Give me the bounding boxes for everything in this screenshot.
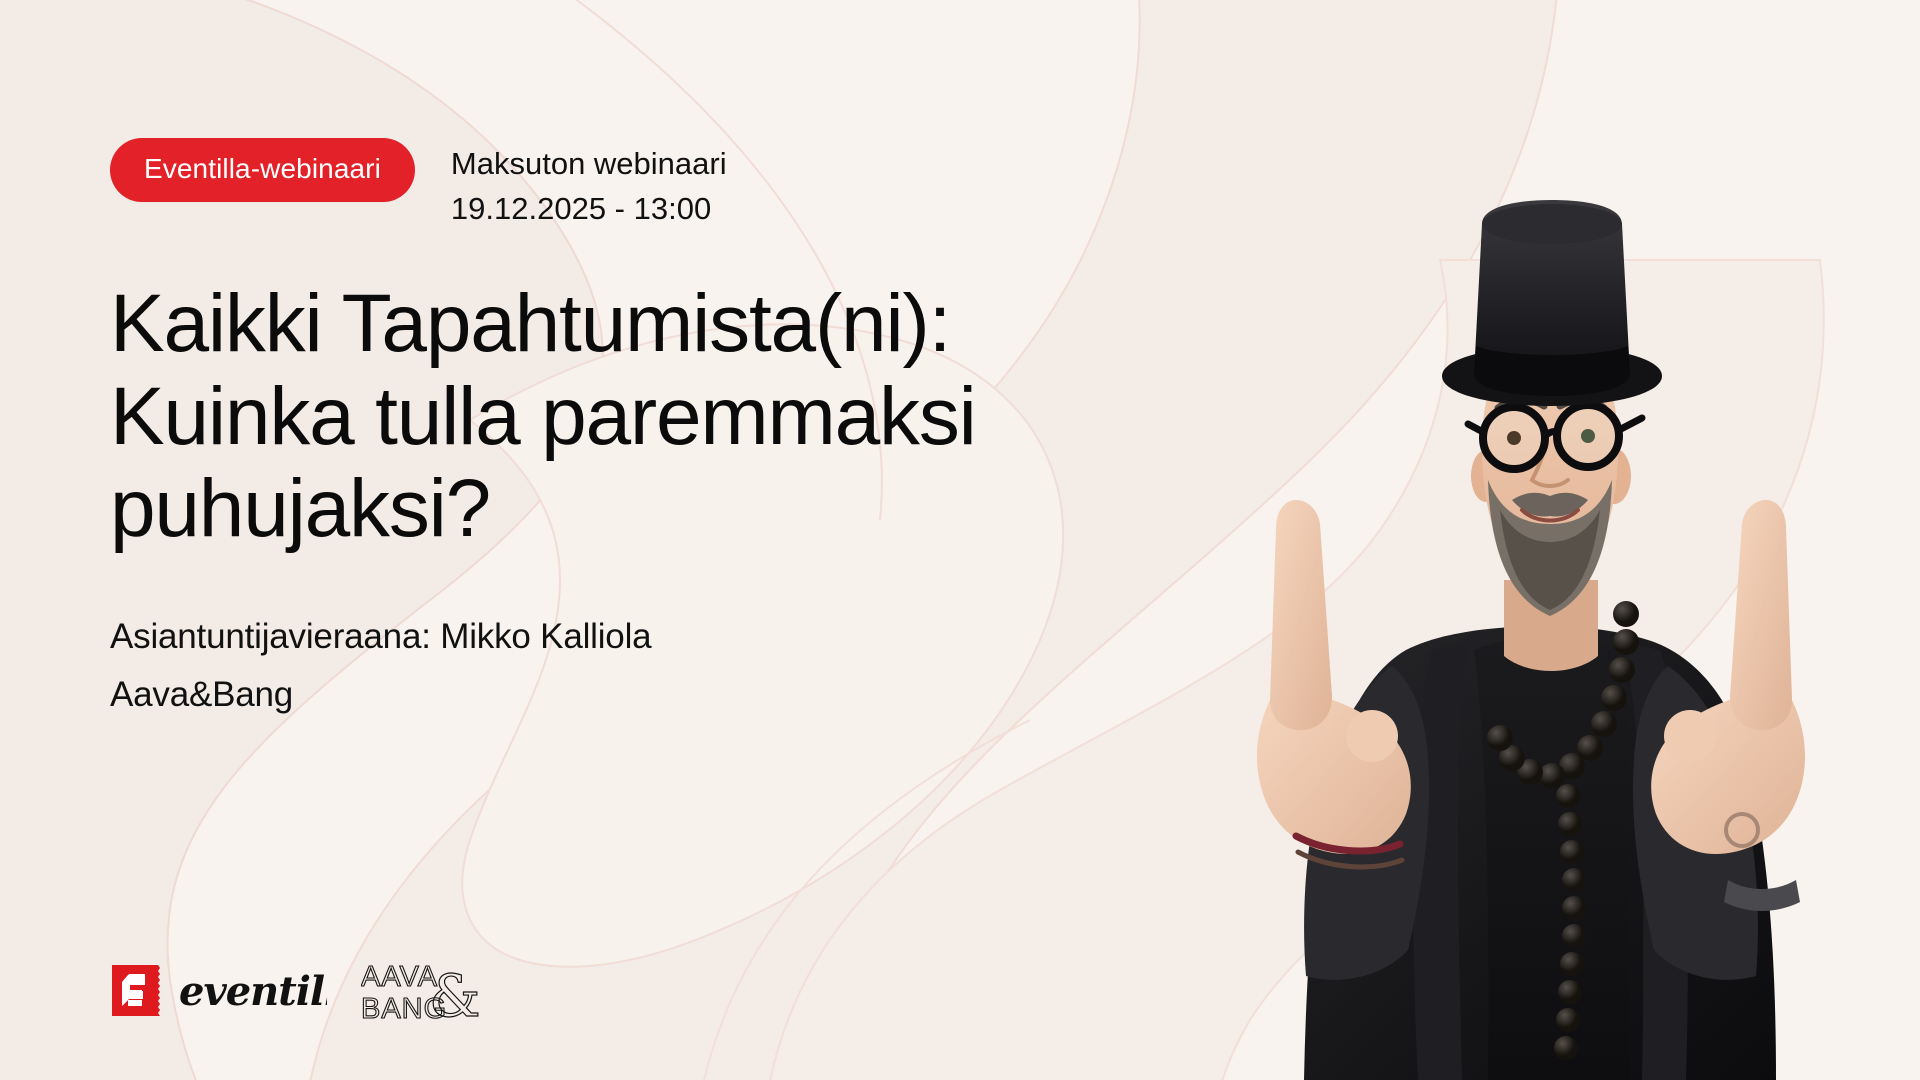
headline-line-3: puhujaksi?	[110, 463, 1270, 556]
right-index-finger	[1730, 500, 1792, 730]
logo-row: eventilla AAVA BANG &	[112, 958, 501, 1024]
top-hat-icon	[1442, 200, 1662, 406]
eye-right	[1581, 429, 1595, 443]
speaker-info: Asiantuntijavieraana: Mikko Kalliola Aav…	[110, 608, 1210, 724]
svg-text:eventilla: eventilla	[179, 968, 327, 1015]
meta-row: Eventilla-webinaari Maksuton webinaari 1…	[110, 138, 727, 232]
eventilla-logo: eventilla	[112, 965, 327, 1017]
aava-bang-line-1: AAVA	[361, 961, 438, 993]
aava-bang-logo: AAVA BANG &	[361, 958, 501, 1024]
right-pointing-hand	[1633, 500, 1805, 980]
left-thumb	[1346, 710, 1398, 762]
event-price-label: Maksuton webinaari	[451, 142, 727, 187]
event-meta: Maksuton webinaari 19.12.2025 - 13:00	[451, 138, 727, 232]
speaker-company-line: Aava&Bang	[110, 666, 1210, 724]
webinar-type-badge: Eventilla-webinaari	[110, 138, 415, 202]
event-datetime: 19.12.2025 - 13:00	[451, 187, 727, 232]
headline-line-2: Kuinka tulla paremmaksi	[110, 371, 1270, 464]
headline-line-1: Kaikki Tapahtumista(ni):	[110, 278, 1270, 371]
right-thumb	[1664, 710, 1716, 762]
aava-bang-ampersand: &	[429, 962, 481, 1024]
eventilla-ticket-mark	[112, 965, 164, 1017]
eye-left	[1507, 431, 1521, 445]
page-title: Kaikki Tapahtumista(ni): Kuinka tulla pa…	[110, 278, 1270, 556]
hat-top	[1482, 204, 1622, 244]
speaker-name-line: Asiantuntijavieraana: Mikko Kalliola	[110, 608, 1210, 666]
eventilla-wordmark: eventilla	[177, 965, 327, 1017]
content-column: Eventilla-webinaari Maksuton webinaari 1…	[110, 0, 1290, 1080]
portrait-head	[1442, 200, 1662, 616]
promo-banner: Eventilla-webinaari Maksuton webinaari 1…	[0, 0, 1920, 1080]
